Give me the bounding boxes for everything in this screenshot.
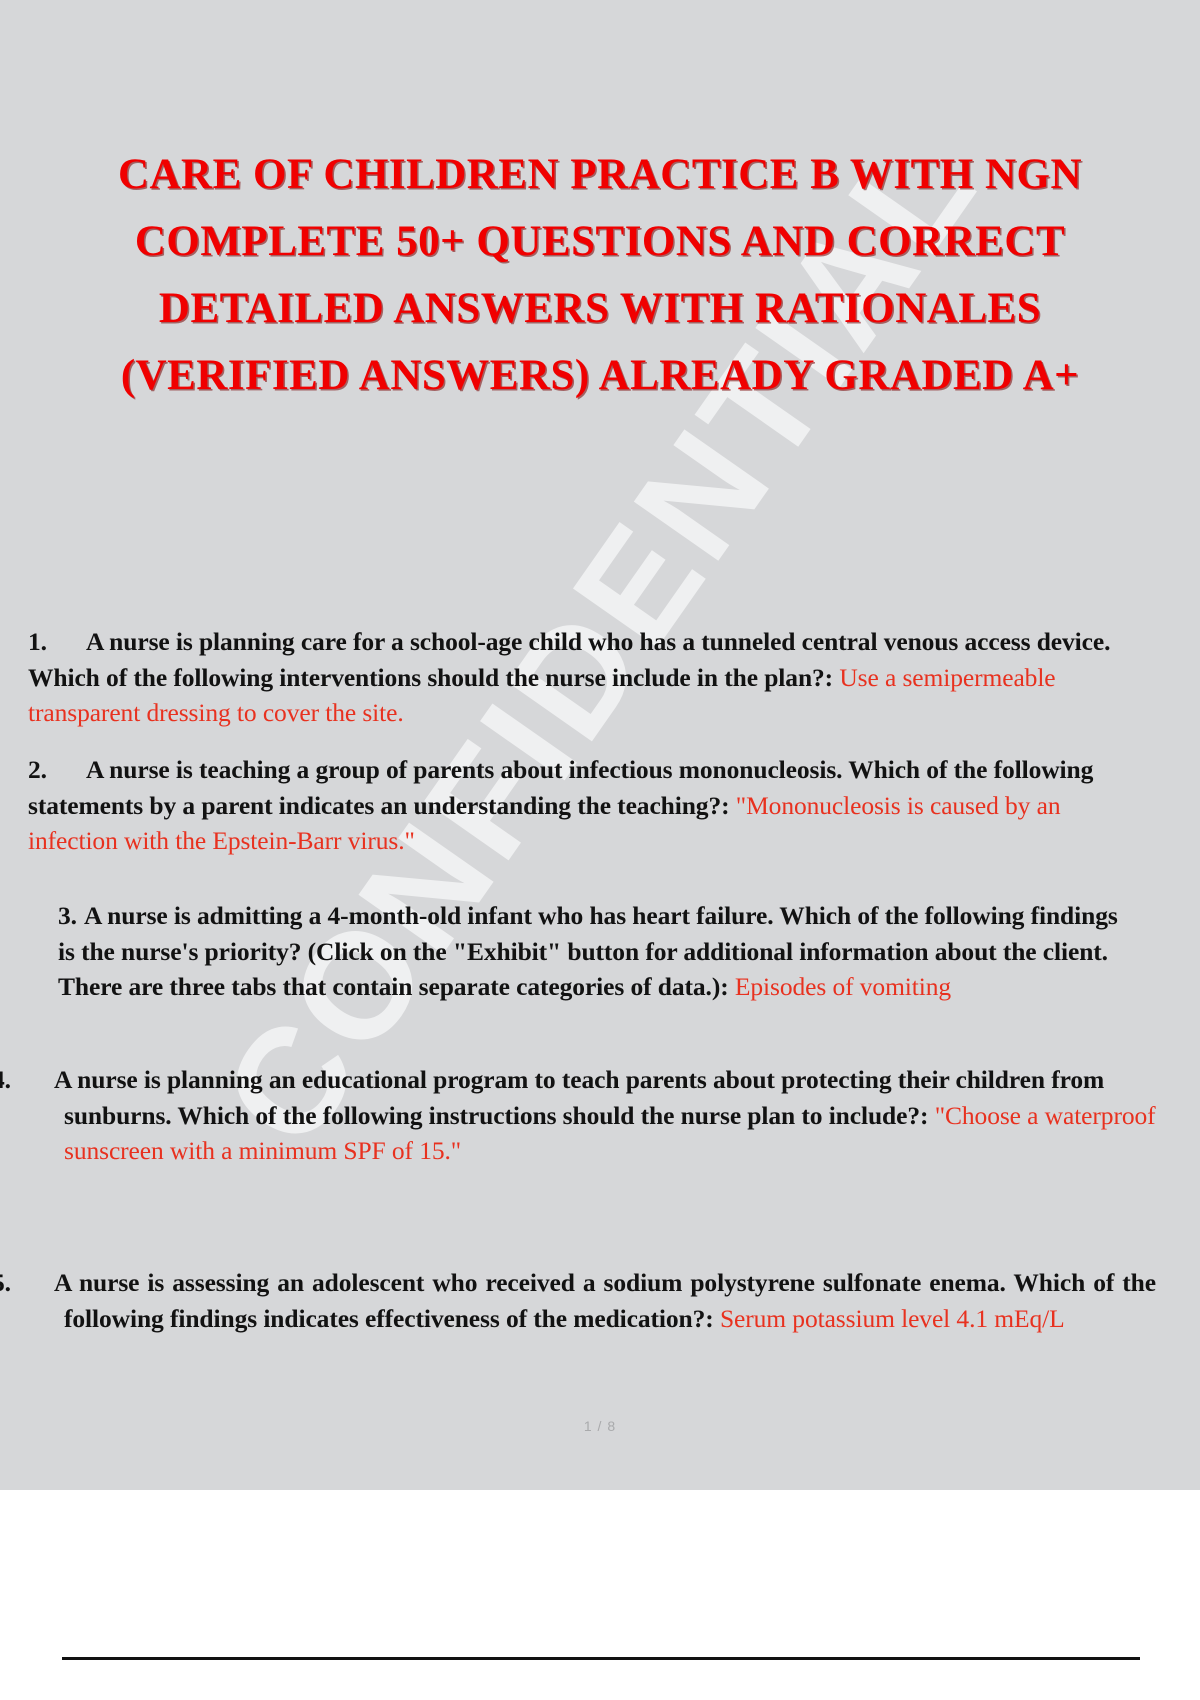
question-number-3: 3. — [58, 898, 84, 934]
question-item-4: 4.A nurse is planning an educational pro… — [28, 1062, 1156, 1169]
question-item-5: 5.A nurse is assessing an adolescent who… — [28, 1265, 1156, 1336]
question-item-3: 3.A nurse is admitting a 4-month-old inf… — [58, 898, 1120, 1005]
document-page: CONFIDENTIAL CARE OF CHILDREN PRACTICE B… — [0, 0, 1200, 1490]
question-item-1: 1.A nurse is planning care for a school-… — [28, 624, 1118, 731]
question-item-2: 2.A nurse is teaching a group of parents… — [28, 752, 1118, 859]
question-number-5: 5. — [28, 1265, 54, 1301]
page-number-indicator: 1 / 8 — [0, 1418, 1200, 1434]
question-prompt-3: A nurse is admitting a 4-month-old infan… — [58, 901, 1118, 1001]
question-number-1: 1. — [28, 624, 86, 660]
page-title: CARE OF CHILDREN PRACTICE B WITH NGN COM… — [100, 141, 1100, 409]
question-answer-3: Episodes of vomiting — [735, 972, 951, 1001]
page-gap-area — [0, 1490, 1200, 1700]
question-answer-5: Serum potassium level 4.1 mEq/L — [720, 1304, 1065, 1333]
question-number-4: 4. — [28, 1062, 54, 1098]
question-number-2: 2. — [28, 752, 86, 788]
bottom-divider — [62, 1657, 1140, 1660]
